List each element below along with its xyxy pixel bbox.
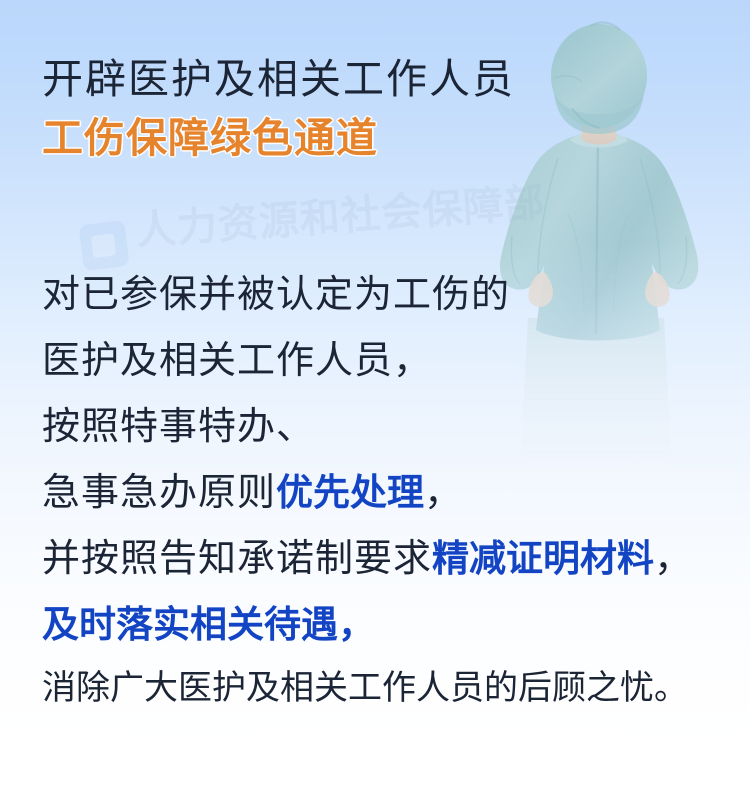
body-line: 消除广大医护及相关工作人员的后顾之忧。: [42, 658, 742, 720]
body-line-plain: 按照特事特办、: [42, 406, 315, 448]
body-line-plain: 并按照告知承诺制要求: [42, 538, 432, 580]
watermark-text: 人力资源和社会保障部: [134, 170, 547, 256]
body-line-plain-after: ，: [424, 472, 463, 514]
body-line: 医护及相关工作人员，: [42, 328, 742, 394]
body-line: 及时落实相关待遇，: [42, 592, 742, 658]
body-line-plain-after: ，: [654, 538, 693, 580]
watermark: 人力资源和社会保障部: [76, 170, 550, 277]
body-line-highlight: 及时落实相关待遇: [42, 604, 338, 645]
body-line: 对已参保并被认定为工伤的: [42, 262, 742, 328]
body-line-plain: 急事急办原则: [42, 472, 276, 514]
body-line: 急事急办原则优先处理，: [42, 460, 742, 526]
body-text: 对已参保并被认定为工伤的 医护及相关工作人员， 按照特事特办、 急事急办原则优先…: [42, 262, 742, 720]
headline: 开辟医护及相关工作人员 工伤保障绿色通道: [42, 52, 702, 164]
headline-line-1: 开辟医护及相关工作人员: [42, 52, 702, 106]
poster-canvas: 人力资源和社会保障部 开辟医护及相关工作人员 工伤保障绿色通道 对已参保并被认定…: [0, 0, 750, 811]
headline-line-2-accent: 工伤保障绿色通道: [42, 112, 702, 164]
body-line: 按照特事特办、: [42, 394, 742, 460]
body-line-highlight: 优先处理: [276, 472, 424, 513]
body-line-plain: 对已参保并被认定为工伤的: [42, 274, 510, 316]
body-line-plain-after: ，: [338, 604, 375, 645]
body-line-plain: 消除广大医护及相关工作人员的后顾之忧。: [42, 670, 688, 707]
body-line-plain: 医护及相关工作人员，: [42, 340, 432, 382]
body-line-highlight: 精减证明材料: [432, 538, 654, 579]
body-line: 并按照告知承诺制要求精减证明材料，: [42, 526, 742, 592]
